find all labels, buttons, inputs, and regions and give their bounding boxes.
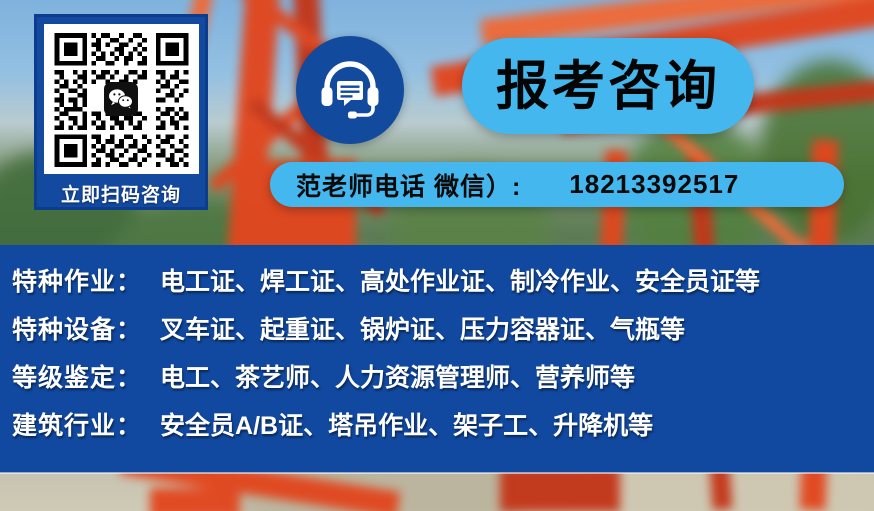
category-label: 等级鉴定： — [12, 358, 142, 394]
category-items: 电工、茶艺师、人力资源管理师、营养师等 — [160, 358, 635, 394]
category-items: 安全员A/B证、塔吊作业、架子工、升降机等 — [160, 406, 653, 442]
category-label: 特种作业： — [12, 262, 142, 298]
list-item: 建筑行业： 安全员A/B证、塔吊作业、架子工、升降机等 — [12, 406, 874, 454]
list-item: 特种作业： 电工证、焊工证、高处作业证、制冷作业、安全员证等 — [12, 262, 874, 310]
consultation-title-pill[interactable]: 报考咨询 — [462, 38, 754, 134]
list-item: 特种设备： 叉车证、起重证、锅炉证、压力容器证、气瓶等 — [12, 310, 874, 358]
wechat-icon — [104, 82, 138, 116]
list-item: 等级鉴定： 电工、茶艺师、人力资源管理师、营养师等 — [12, 358, 874, 406]
contact-label: 范老师电话 微信）: — [296, 167, 521, 203]
category-label: 特种设备： — [12, 310, 142, 346]
category-items: 电工证、焊工证、高处作业证、制冷作业、安全员证等 — [160, 262, 760, 298]
consultation-title-text: 报考咨询 — [496, 60, 720, 113]
qr-caption: 立即扫码咨询 — [61, 180, 181, 207]
certificate-categories-band: 特种作业： 电工证、焊工证、高处作业证、制冷作业、安全员证等 特种设备： 叉车证… — [0, 245, 874, 473]
advertisement-poster: 立即扫码咨询 报考咨询 范老师电话 微信）: 18213392517 — [0, 0, 874, 511]
qr-code-image[interactable] — [44, 24, 199, 174]
qr-code-card[interactable]: 立即扫码咨询 — [34, 14, 208, 210]
band-bottom-divider — [0, 472, 874, 474]
contact-phone-pill[interactable]: 范老师电话 微信）: 18213392517 — [270, 162, 844, 207]
headset-glyph — [318, 60, 382, 120]
category-items: 叉车证、起重证、锅炉证、压力容器证、气瓶等 — [160, 310, 685, 346]
category-label: 建筑行业： — [12, 406, 142, 442]
wechat-glyph — [108, 88, 134, 110]
headset-support-icon[interactable] — [296, 36, 404, 144]
contact-phone-number[interactable]: 18213392517 — [569, 169, 739, 200]
